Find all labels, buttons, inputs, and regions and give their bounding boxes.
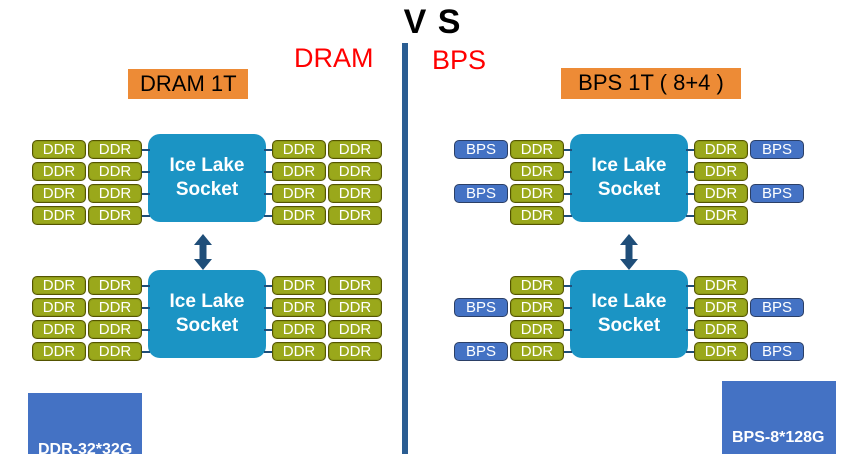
socket-label-line2: Socket bbox=[598, 314, 660, 338]
module-label: BPS bbox=[466, 299, 496, 317]
module-label: DDR bbox=[705, 321, 738, 339]
module-ddr: DDR bbox=[32, 140, 86, 159]
module-label: DDR bbox=[43, 141, 76, 159]
connector-wire bbox=[564, 171, 572, 173]
module-ddr: DDR bbox=[272, 276, 326, 295]
module-label: DDR bbox=[339, 163, 372, 181]
socket-label-line1: Ice Lake bbox=[592, 154, 667, 178]
module-label: DDR bbox=[521, 299, 554, 317]
module-label: DDR bbox=[705, 163, 738, 181]
module-ddr: DDR bbox=[32, 276, 86, 295]
module-ddr: DDR bbox=[510, 298, 564, 317]
module-ddr: DDR bbox=[88, 184, 142, 203]
module-label: DDR bbox=[99, 321, 132, 339]
module-label: DDR bbox=[283, 185, 316, 203]
module-label: DDR bbox=[705, 141, 738, 159]
right-diagram-bottom-socket: Ice LakeSocketDDRDDRBPSDDRDDRBPSDDRDDRBP… bbox=[430, 272, 830, 382]
module-label: DDR bbox=[43, 299, 76, 317]
module-bps: BPS bbox=[750, 342, 804, 361]
socket-label-line2: Socket bbox=[176, 178, 238, 202]
right-diagram-top-socket: Ice LakeSocketDDRBPSDDRDDRBPSDDRDDRBPSDD… bbox=[430, 136, 830, 246]
left-legend-badge: DDR-32*32G bbox=[28, 393, 142, 454]
socket-label-line1: Ice Lake bbox=[170, 154, 245, 178]
connector-wire bbox=[564, 149, 572, 151]
module-bps: BPS bbox=[454, 184, 508, 203]
module-ddr: DDR bbox=[510, 140, 564, 159]
connector-wire bbox=[264, 307, 272, 309]
module-ddr: DDR bbox=[328, 298, 382, 317]
module-ddr: DDR bbox=[510, 162, 564, 181]
module-label: DDR bbox=[99, 163, 132, 181]
connector-wire bbox=[564, 329, 572, 331]
page-title: V S bbox=[0, 2, 865, 42]
module-ddr: DDR bbox=[328, 342, 382, 361]
module-ddr: DDR bbox=[328, 320, 382, 339]
module-ddr: DDR bbox=[88, 342, 142, 361]
module-label: DDR bbox=[339, 141, 372, 159]
module-ddr: DDR bbox=[694, 184, 748, 203]
connector-wire bbox=[686, 285, 694, 287]
module-ddr: DDR bbox=[32, 184, 86, 203]
module-ddr: DDR bbox=[88, 140, 142, 159]
module-ddr: DDR bbox=[510, 320, 564, 339]
module-label: DDR bbox=[99, 207, 132, 225]
connector-wire bbox=[142, 171, 150, 173]
module-ddr: DDR bbox=[510, 184, 564, 203]
module-ddr: DDR bbox=[32, 298, 86, 317]
module-bps: BPS bbox=[750, 140, 804, 159]
module-label: DDR bbox=[521, 343, 554, 361]
connector-wire bbox=[142, 149, 150, 151]
module-label: DDR bbox=[705, 277, 738, 295]
module-label: DDR bbox=[521, 207, 554, 225]
module-bps: BPS bbox=[454, 342, 508, 361]
module-ddr: DDR bbox=[88, 276, 142, 295]
module-label: BPS bbox=[762, 299, 792, 317]
module-label: DDR bbox=[339, 321, 372, 339]
socket-label-line1: Ice Lake bbox=[592, 290, 667, 314]
module-label: DDR bbox=[43, 163, 76, 181]
module-label: DDR bbox=[339, 207, 372, 225]
left-side-tag: DRAM bbox=[294, 42, 374, 74]
module-bps: BPS bbox=[454, 140, 508, 159]
connector-wire bbox=[686, 149, 694, 151]
connector-wire bbox=[564, 285, 572, 287]
module-ddr: DDR bbox=[272, 184, 326, 203]
module-ddr: DDR bbox=[32, 342, 86, 361]
connector-wire bbox=[264, 351, 272, 353]
module-ddr: DDR bbox=[272, 298, 326, 317]
module-label: DDR bbox=[339, 299, 372, 317]
module-label: DDR bbox=[43, 277, 76, 295]
module-label: DDR bbox=[283, 277, 316, 295]
connector-wire bbox=[564, 193, 572, 195]
socket-label-line2: Socket bbox=[598, 178, 660, 202]
module-label: DDR bbox=[521, 321, 554, 339]
connector-wire bbox=[686, 329, 694, 331]
module-ddr: DDR bbox=[694, 276, 748, 295]
module-ddr: DDR bbox=[328, 140, 382, 159]
connector-wire bbox=[686, 193, 694, 195]
connector-wire bbox=[686, 171, 694, 173]
left-diagram-bottom-socket: Ice LakeSocketDDRDDRDDRDDRDDRDDRDDRDDRDD… bbox=[8, 272, 408, 382]
left-config-label: DRAM 1T bbox=[128, 69, 248, 99]
module-ddr: DDR bbox=[88, 206, 142, 225]
module-label: DDR bbox=[99, 141, 132, 159]
module-bps: BPS bbox=[750, 184, 804, 203]
module-bps: BPS bbox=[454, 298, 508, 317]
connector-wire bbox=[264, 149, 272, 151]
connector-wire bbox=[142, 193, 150, 195]
ice-lake-socket: Ice LakeSocket bbox=[148, 134, 266, 222]
module-bps: BPS bbox=[750, 298, 804, 317]
module-label: DDR bbox=[283, 299, 316, 317]
module-label: DDR bbox=[43, 185, 76, 203]
left-interconnect-arrow bbox=[192, 234, 214, 270]
connector-wire bbox=[142, 307, 150, 309]
module-ddr: DDR bbox=[272, 140, 326, 159]
module-label: DDR bbox=[283, 163, 316, 181]
left-diagram-top-socket: Ice LakeSocketDDRDDRDDRDDRDDRDDRDDRDDRDD… bbox=[8, 136, 408, 246]
connector-wire bbox=[264, 329, 272, 331]
connector-wire bbox=[142, 285, 150, 287]
connector-wire bbox=[142, 351, 150, 353]
connector-wire bbox=[264, 171, 272, 173]
module-ddr: DDR bbox=[694, 206, 748, 225]
module-ddr: DDR bbox=[272, 162, 326, 181]
module-label: DDR bbox=[521, 163, 554, 181]
module-label: DDR bbox=[43, 343, 76, 361]
connector-wire bbox=[686, 307, 694, 309]
socket-label-line1: Ice Lake bbox=[170, 290, 245, 314]
connector-wire bbox=[686, 215, 694, 217]
module-ddr: DDR bbox=[510, 342, 564, 361]
module-label: DDR bbox=[283, 321, 316, 339]
module-label: DDR bbox=[521, 185, 554, 203]
module-label: BPS bbox=[762, 141, 792, 159]
module-ddr: DDR bbox=[328, 276, 382, 295]
ice-lake-socket: Ice LakeSocket bbox=[570, 270, 688, 358]
module-label: DDR bbox=[705, 185, 738, 203]
module-ddr: DDR bbox=[694, 140, 748, 159]
module-ddr: DDR bbox=[328, 162, 382, 181]
module-ddr: DDR bbox=[272, 206, 326, 225]
module-ddr: DDR bbox=[694, 162, 748, 181]
module-label: DDR bbox=[521, 277, 554, 295]
connector-wire bbox=[686, 351, 694, 353]
module-label: DDR bbox=[705, 299, 738, 317]
module-label: DDR bbox=[99, 277, 132, 295]
module-label: DDR bbox=[283, 207, 316, 225]
module-label: BPS bbox=[466, 185, 496, 203]
module-label: BPS bbox=[762, 343, 792, 361]
module-label: DDR bbox=[705, 343, 738, 361]
module-ddr: DDR bbox=[88, 162, 142, 181]
right-legend-line1: BPS-8*128G bbox=[732, 427, 826, 448]
module-label: BPS bbox=[762, 185, 792, 203]
module-ddr: DDR bbox=[694, 320, 748, 339]
module-label: DDR bbox=[339, 343, 372, 361]
module-ddr: DDR bbox=[510, 206, 564, 225]
ice-lake-socket: Ice LakeSocket bbox=[148, 270, 266, 358]
diagram-canvas: V S DRAM BPS DRAM 1T BPS 1T ( 8+4 ) Ice … bbox=[0, 0, 865, 454]
module-label: DDR bbox=[99, 299, 132, 317]
module-label: BPS bbox=[466, 141, 496, 159]
module-label: DDR bbox=[283, 141, 316, 159]
connector-wire bbox=[264, 215, 272, 217]
right-side-tag: BPS bbox=[432, 44, 486, 76]
module-label: DDR bbox=[99, 185, 132, 203]
module-label: DDR bbox=[43, 207, 76, 225]
module-label: BPS bbox=[466, 343, 496, 361]
connector-wire bbox=[142, 215, 150, 217]
module-label: DDR bbox=[283, 343, 316, 361]
module-label: DDR bbox=[339, 277, 372, 295]
module-ddr: DDR bbox=[88, 298, 142, 317]
connector-wire bbox=[264, 193, 272, 195]
module-ddr: DDR bbox=[32, 206, 86, 225]
module-ddr: DDR bbox=[272, 320, 326, 339]
module-label: DDR bbox=[43, 321, 76, 339]
module-ddr: DDR bbox=[694, 298, 748, 317]
connector-wire bbox=[264, 285, 272, 287]
right-interconnect-arrow bbox=[618, 234, 640, 270]
connector-wire bbox=[142, 329, 150, 331]
module-label: DDR bbox=[99, 343, 132, 361]
module-ddr: DDR bbox=[694, 342, 748, 361]
ice-lake-socket: Ice LakeSocket bbox=[570, 134, 688, 222]
connector-wire bbox=[564, 307, 572, 309]
module-ddr: DDR bbox=[32, 320, 86, 339]
module-ddr: DDR bbox=[88, 320, 142, 339]
module-ddr: DDR bbox=[32, 162, 86, 181]
right-config-label: BPS 1T ( 8+4 ) bbox=[561, 68, 741, 99]
module-ddr: DDR bbox=[328, 184, 382, 203]
module-ddr: DDR bbox=[272, 342, 326, 361]
socket-label-line2: Socket bbox=[176, 314, 238, 338]
connector-wire bbox=[564, 351, 572, 353]
module-label: DDR bbox=[705, 207, 738, 225]
module-label: DDR bbox=[521, 141, 554, 159]
vertical-divider bbox=[402, 43, 408, 454]
connector-wire bbox=[564, 215, 572, 217]
module-ddr: DDR bbox=[328, 206, 382, 225]
module-label: DDR bbox=[339, 185, 372, 203]
module-ddr: DDR bbox=[510, 276, 564, 295]
right-legend-badge: BPS-8*128G DDR-16*32G bbox=[722, 381, 836, 454]
left-legend-line: DDR-32*32G bbox=[38, 439, 132, 454]
